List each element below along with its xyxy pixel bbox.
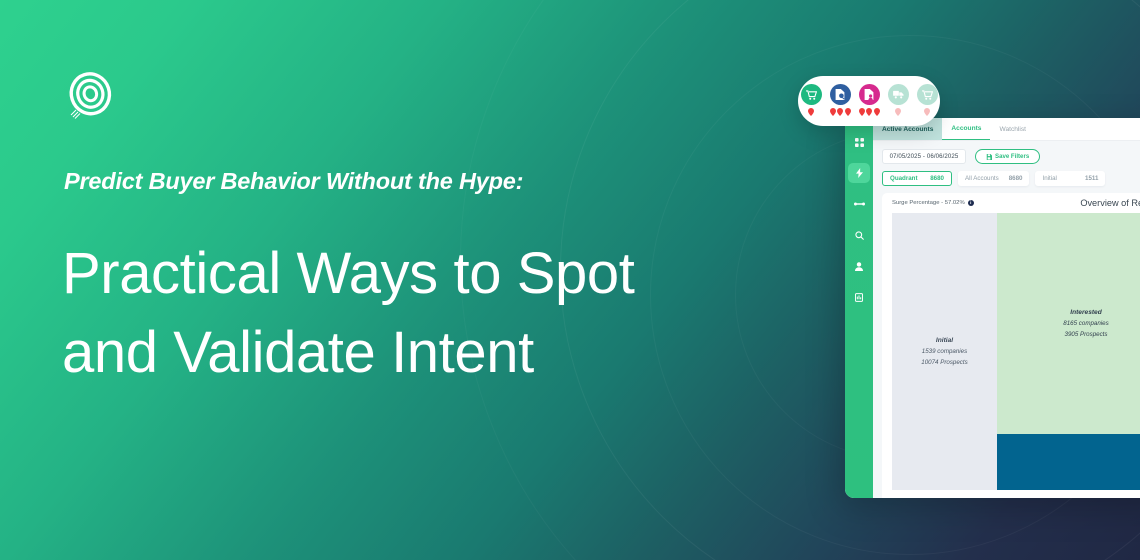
chip-label: Quadrant bbox=[890, 175, 918, 182]
badge-dot bbox=[866, 108, 872, 116]
save-filters-button[interactable]: Save Filters bbox=[975, 149, 1040, 164]
notification-pill bbox=[798, 76, 940, 126]
save-filters-label: Save Filters bbox=[995, 153, 1029, 160]
pill-item-cart[interactable] bbox=[801, 84, 822, 116]
chip-label: Initial bbox=[1042, 175, 1056, 182]
badge-dots bbox=[830, 108, 851, 116]
badge-dot bbox=[837, 108, 843, 116]
sidebar-item-dashboard[interactable] bbox=[848, 132, 870, 152]
headline-line-1: Practical Ways to Spot bbox=[62, 234, 762, 313]
card-title: Overview of Resear bbox=[1080, 198, 1140, 208]
document-search-icon bbox=[830, 84, 851, 105]
card-header: Surge Percentage - 57.02% i Overview of … bbox=[882, 193, 1140, 213]
surge-label: Surge Percentage - 57.02% bbox=[892, 200, 965, 206]
badge-dot bbox=[924, 108, 930, 116]
quadrant-engaged[interactable] bbox=[997, 434, 1140, 490]
quadrant-chart: Initial 1539 companies 10074 Prospects I… bbox=[892, 213, 1140, 490]
headline-line-2: and Validate Intent bbox=[62, 313, 762, 392]
badge-dot bbox=[859, 108, 865, 116]
cart-icon bbox=[917, 84, 938, 105]
chip-label: All Accounts bbox=[965, 175, 999, 182]
tab-accounts[interactable]: Accounts bbox=[942, 118, 990, 140]
truck-icon bbox=[888, 84, 909, 105]
spiral-onion-logo bbox=[64, 70, 116, 122]
badge-dots bbox=[859, 108, 880, 116]
quadrant-companies: 1539 companies bbox=[922, 348, 967, 355]
pill-item-cart-faded[interactable] bbox=[917, 84, 938, 116]
filter-bar: 07/05/2025 - 06/06/2025 Save Filters bbox=[873, 141, 1140, 164]
quadrant-prospects: 3905 Prospects bbox=[1065, 331, 1108, 338]
quadrant-name: Interested bbox=[1070, 309, 1102, 316]
badge-dot bbox=[845, 108, 851, 116]
pill-item-document-person[interactable] bbox=[859, 84, 880, 116]
chip-count: 8680 bbox=[1009, 175, 1023, 182]
chip-all-accounts[interactable]: All Accounts 8680 bbox=[958, 171, 1029, 186]
tab-watchlist[interactable]: Watchlist bbox=[990, 118, 1035, 140]
badge-dot bbox=[895, 108, 901, 116]
pill-item-document-search[interactable] bbox=[830, 84, 851, 116]
filter-chips: Quadrant 8680 All Accounts 8680 Initial … bbox=[873, 164, 1140, 186]
quadrant-interested[interactable]: Interested 8165 companies 3905 Prospects bbox=[997, 213, 1140, 434]
cart-icon bbox=[801, 84, 822, 105]
sidebar-item-people[interactable] bbox=[848, 256, 870, 276]
app-mockup: Active Accounts Accounts Watchlist 07/05… bbox=[845, 118, 1140, 498]
sidebar-item-intent[interactable] bbox=[848, 163, 870, 183]
quadrant-prospects: 10074 Prospects bbox=[921, 359, 967, 366]
hero-banner: Predict Buyer Behavior Without the Hype:… bbox=[0, 0, 1140, 560]
quadrant-companies: 8165 companies bbox=[1063, 320, 1108, 327]
info-icon[interactable]: i bbox=[968, 200, 974, 206]
chip-count: 1511 bbox=[1085, 175, 1098, 182]
date-range-input[interactable]: 07/05/2025 - 06/06/2025 bbox=[882, 149, 966, 164]
app-sidebar bbox=[845, 118, 873, 498]
quadrant-initial[interactable]: Initial 1539 companies 10074 Prospects bbox=[892, 213, 997, 490]
badge-dots bbox=[895, 108, 901, 116]
badge-dot bbox=[830, 108, 836, 116]
app-main: Active Accounts Accounts Watchlist 07/05… bbox=[873, 118, 1140, 498]
sidebar-item-analytics[interactable] bbox=[848, 194, 870, 214]
lock-save-icon bbox=[986, 154, 992, 160]
document-person-icon bbox=[859, 84, 880, 105]
badge-dot bbox=[874, 108, 880, 116]
sidebar-item-search[interactable] bbox=[848, 225, 870, 245]
quadrant-card: Surge Percentage - 57.02% i Overview of … bbox=[882, 193, 1140, 498]
chip-initial[interactable]: Initial 1511 bbox=[1035, 171, 1105, 186]
chip-quadrant[interactable]: Quadrant 8680 bbox=[882, 171, 952, 186]
badge-dots bbox=[924, 108, 930, 116]
pill-item-truck[interactable] bbox=[888, 84, 909, 116]
chip-count: 8680 bbox=[930, 175, 944, 182]
page-title: Practical Ways to Spot and Validate Inte… bbox=[62, 234, 762, 392]
hero-eyebrow: Predict Buyer Behavior Without the Hype: bbox=[64, 168, 523, 195]
surge-percentage: Surge Percentage - 57.02% i bbox=[892, 200, 974, 206]
sidebar-item-reports[interactable] bbox=[848, 287, 870, 307]
badge-dot bbox=[808, 108, 814, 116]
badge-dots bbox=[808, 108, 814, 116]
quadrant-name: Initial bbox=[936, 337, 953, 344]
